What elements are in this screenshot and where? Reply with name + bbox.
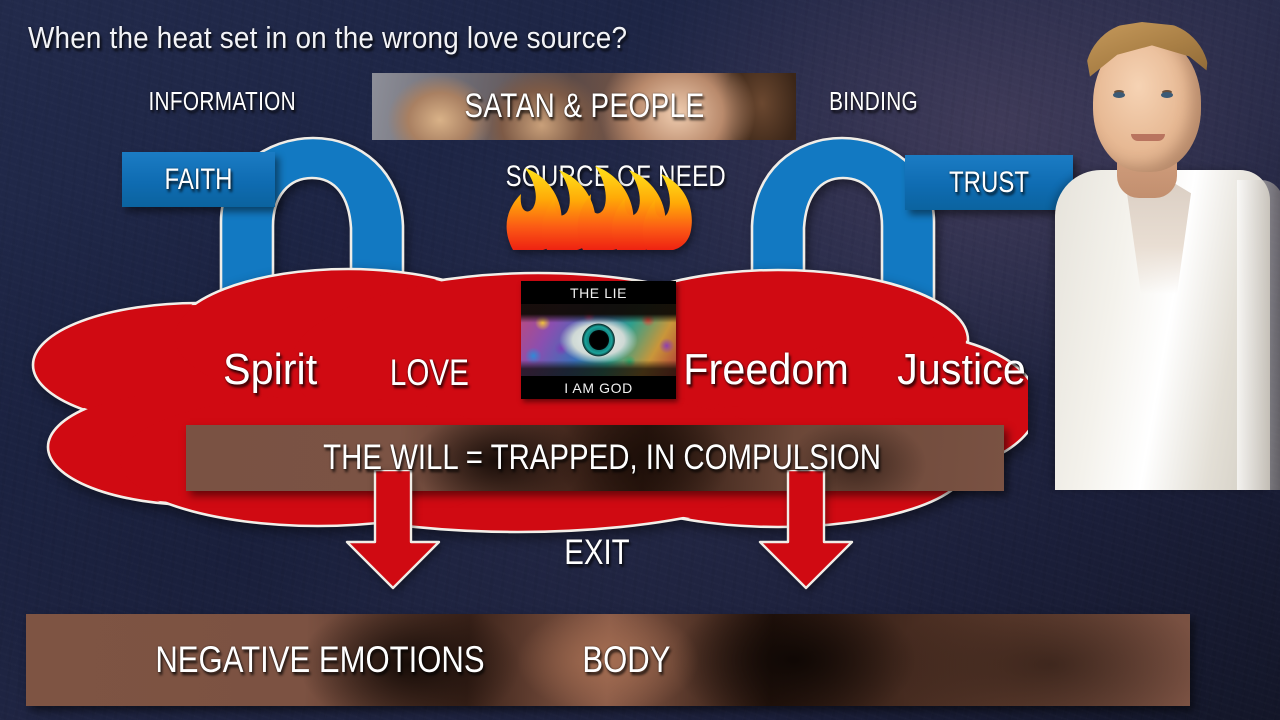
cloud-word-spirit: Spirit — [220, 345, 320, 395]
heading-left-label: INFORMATION — [148, 86, 296, 117]
red-arrow-down-right-icon — [746, 470, 866, 590]
cloud-word-justice: Justice — [893, 345, 1030, 395]
heading-center-label: SATAN & PEOPLE — [464, 87, 704, 126]
flame-icon — [495, 150, 695, 250]
cloud-word-love: LOVE — [380, 352, 479, 394]
presenter-shirt — [1055, 170, 1270, 490]
will-statement-bar: THE WILL = TRAPPED, IN COMPULSION — [186, 425, 1004, 491]
the-lie-eye-card: THE LIE I AM GOD — [521, 281, 676, 399]
faith-box[interactable]: FAITH — [122, 152, 275, 207]
eye-card-top-label: THE LIE — [521, 281, 676, 304]
people-photo-strip: SATAN & PEOPLE — [372, 73, 796, 140]
will-statement-text: THE WILL = TRAPPED, IN COMPULSION — [323, 438, 881, 478]
presenter-avatar — [1025, 0, 1280, 490]
heading-right: BINDING — [818, 86, 929, 117]
faith-label: FAITH — [164, 163, 232, 197]
presenter-eye-left — [1113, 92, 1125, 98]
page-title: When the heat set in on the wrong love s… — [28, 20, 928, 56]
bottom-outcome-bar: NEGATIVE EMOTIONS BODY — [26, 614, 1190, 706]
heading-center: SATAN & PEOPLE — [372, 73, 796, 140]
presenter-eye-right — [1161, 92, 1173, 98]
heading-right-label: BINDING — [829, 86, 918, 117]
mosaic-eye-image — [521, 304, 676, 376]
heading-left: INFORMATION — [130, 86, 314, 117]
exit-label: EXIT — [558, 533, 636, 573]
presenter-mouth — [1131, 134, 1165, 141]
cloud-word-freedom: Freedom — [678, 345, 854, 395]
red-arrow-down-left-icon — [333, 470, 453, 590]
slide-canvas: When the heat set in on the wrong love s… — [0, 0, 1280, 720]
page-title-text: When the heat set in on the wrong love s… — [28, 20, 627, 56]
negative-emotions-label: NEGATIVE EMOTIONS — [155, 639, 484, 681]
eye-card-bottom-label: I AM GOD — [521, 376, 676, 399]
trust-label: TRUST — [949, 166, 1029, 200]
body-label: BODY — [582, 639, 670, 681]
